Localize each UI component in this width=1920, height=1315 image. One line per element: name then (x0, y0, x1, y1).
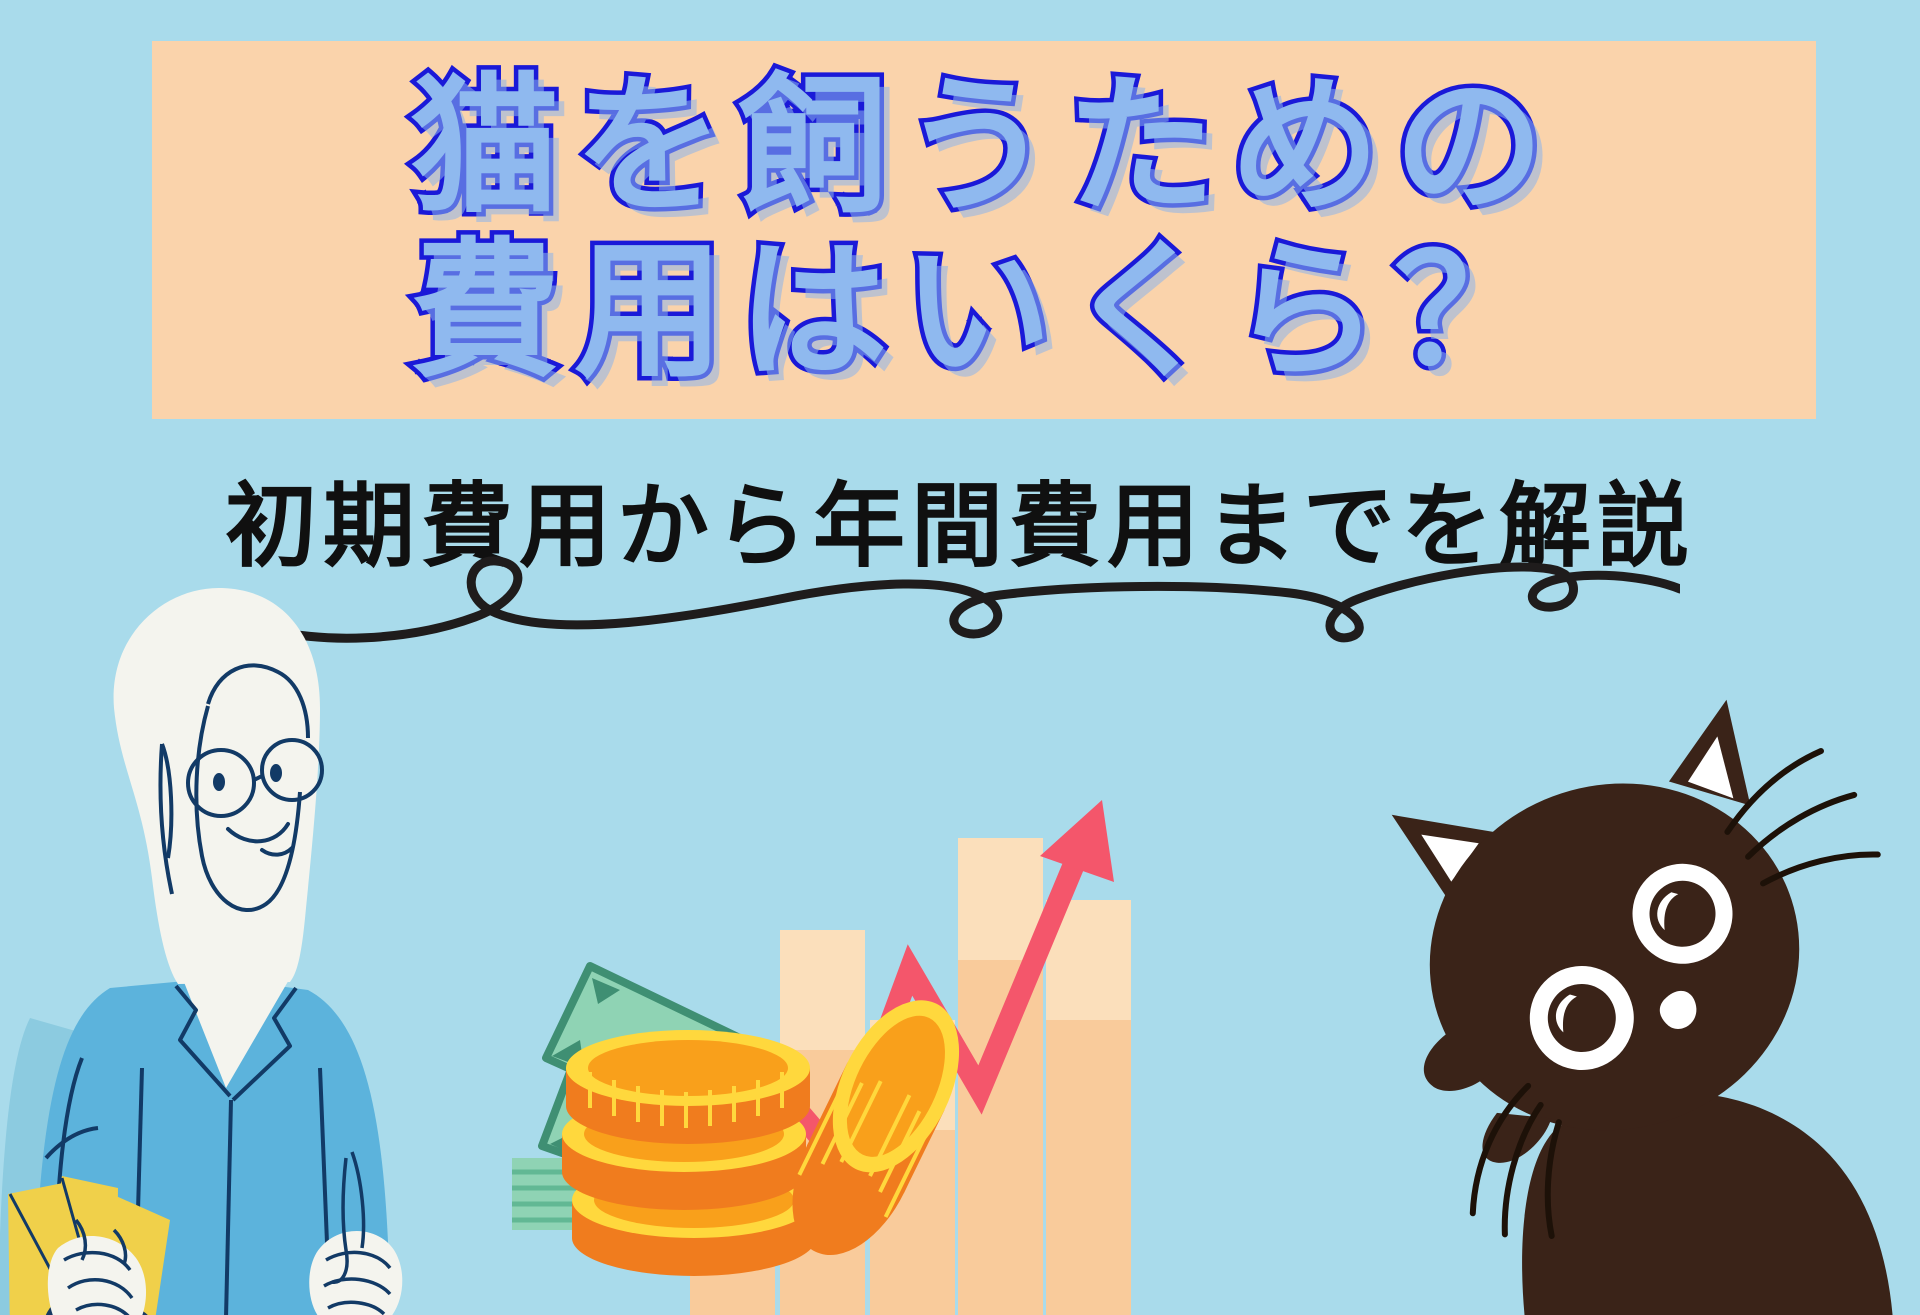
title-band: 猫を飼うための 費用はいくら？ (152, 41, 1816, 419)
money-and-growth-chart-illustration: $ $ (480, 660, 1180, 1315)
title-line-2: 費用はいくら？ (410, 239, 1558, 386)
title-line-1: 猫を飼うための (410, 74, 1558, 221)
black-cat-illustration (1225, 660, 1920, 1315)
woman-holding-money-illustration (0, 548, 460, 1315)
poster-title: 猫を飼うための 費用はいくら？ (152, 41, 1816, 419)
poster-canvas: 猫を飼うための 費用はいくら？ 初期費用から年間費用までを解説 (0, 0, 1920, 1315)
squiggle-divider-icon (260, 555, 1680, 645)
